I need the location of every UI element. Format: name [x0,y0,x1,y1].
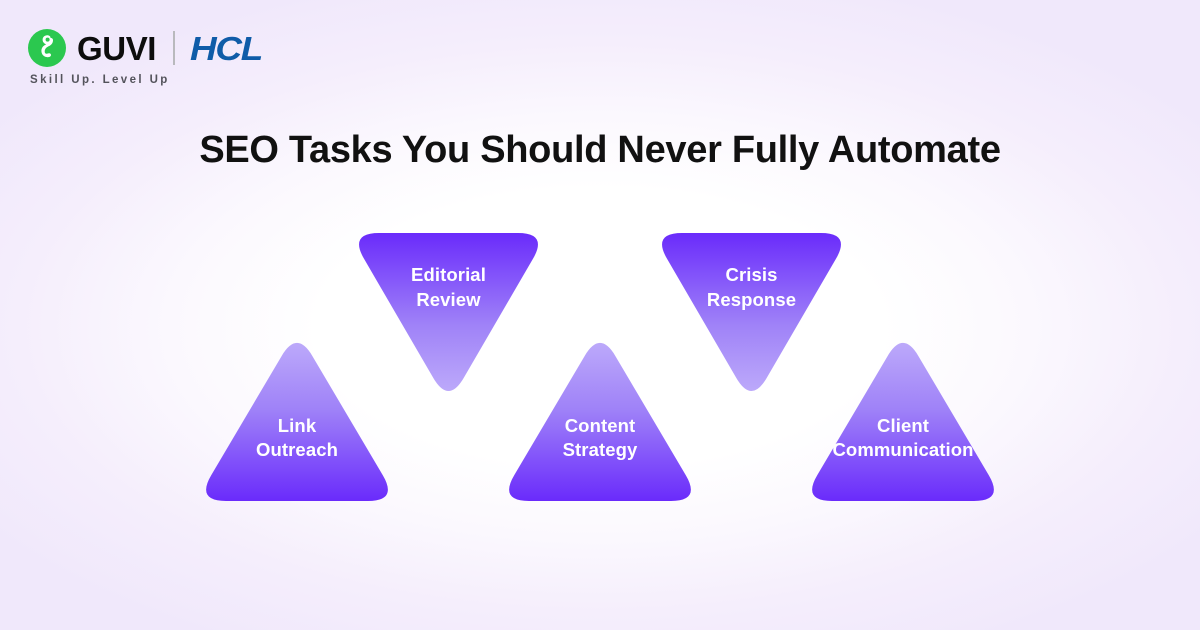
infographic-canvas: GUVI HCL Skill Up. Level Up SEO Tasks Yo… [0,0,1200,630]
triangle-client-communication[interactable]: Client Communication [802,330,1004,501]
triangle-diagram: Link OutreachEditorial ReviewContent Str… [0,0,1200,630]
triangle-shape [812,343,994,501]
